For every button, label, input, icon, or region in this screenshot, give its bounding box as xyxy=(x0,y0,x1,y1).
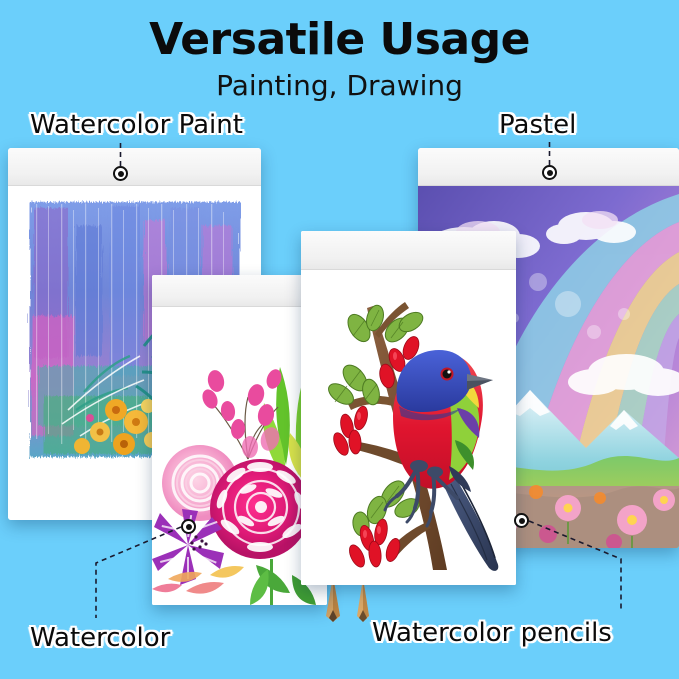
callout-label-pastel: Pastel xyxy=(499,112,576,138)
callout-label-watercolor: Watercolor xyxy=(30,625,170,651)
callout-marker-watercolor-paint[interactable] xyxy=(113,166,128,181)
callout-marker-pastel[interactable] xyxy=(542,165,557,180)
pad-binding-strip xyxy=(8,148,261,186)
callout-label-watercolor-pencils: Watercolor pencils xyxy=(372,620,612,646)
callout-marker-watercolor-pencils[interactable] xyxy=(514,513,529,528)
page-subtitle: Painting, Drawing xyxy=(0,72,679,100)
callout-label-watercolor-paint: Watercolor Paint xyxy=(30,112,243,138)
watercolor-pencils-pad xyxy=(301,231,516,585)
callout-marker-watercolor[interactable] xyxy=(181,519,196,534)
pad-sheet xyxy=(301,270,516,585)
pad-binding-strip xyxy=(301,231,516,270)
page-title: Versatile Usage xyxy=(0,18,679,62)
infographic-canvas: Versatile Usage Painting, Drawing Waterc… xyxy=(0,0,679,679)
pencil-tip xyxy=(352,578,374,626)
watercolor-pencils-artwork xyxy=(301,270,516,585)
